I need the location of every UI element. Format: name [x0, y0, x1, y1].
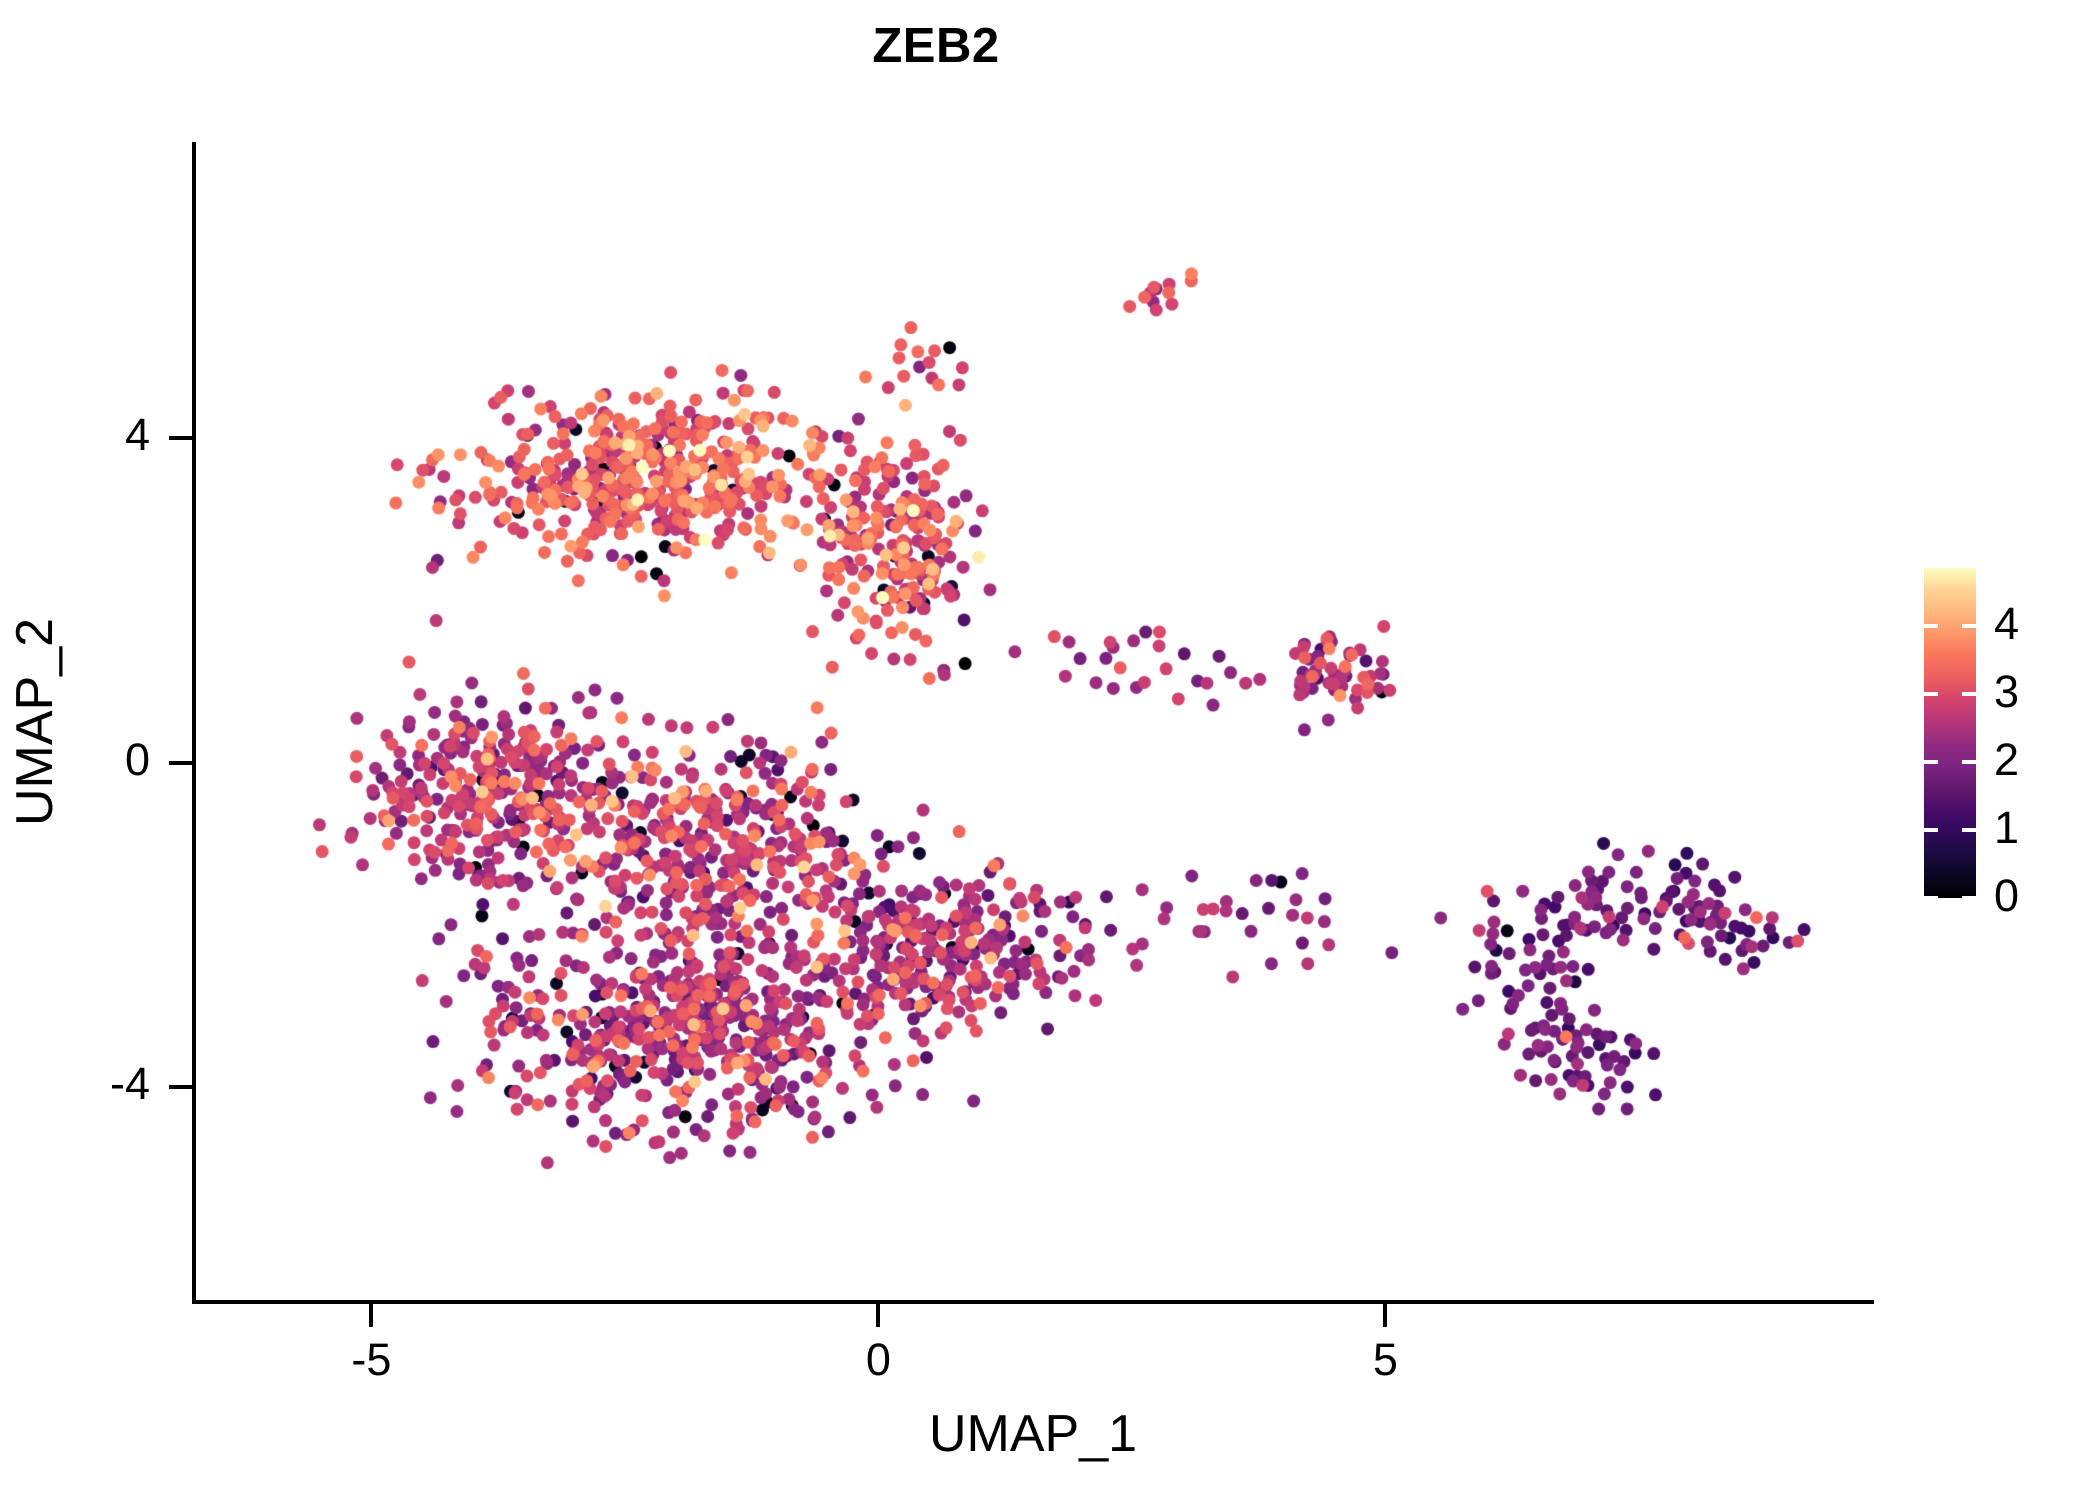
x-tick-label: 5 — [1285, 1334, 1485, 1386]
y-tick-mark — [169, 436, 193, 440]
colorbar-tick-mark — [1924, 692, 1938, 696]
plot-panel — [194, 142, 1872, 1302]
y-tick-mark — [169, 761, 193, 765]
colorbar-tick-mark — [1924, 896, 1938, 900]
x-tick-label: 0 — [778, 1334, 978, 1386]
colorbar-tick-mark — [1962, 692, 1976, 696]
x-tick-label: -5 — [271, 1334, 471, 1386]
colorbar-tick-label: 4 — [1994, 598, 2084, 650]
colorbar-tick-mark — [1962, 896, 1976, 900]
figure-root: ZEB2 -404 -505 UMAP_1 UMAP_2 01234 — [0, 0, 2100, 1500]
x-tick-mark — [1383, 1303, 1387, 1327]
y-axis-line — [192, 142, 196, 1304]
page-title: ZEB2 — [0, 18, 1872, 74]
colorbar-tick-label: 2 — [1994, 734, 2084, 786]
colorbar-tick-mark — [1924, 828, 1938, 832]
colorbar-gradient — [1924, 568, 1976, 898]
y-tick-mark — [169, 1085, 193, 1089]
colorbar-tick-mark — [1924, 760, 1938, 764]
scatter-points-layer — [194, 142, 1872, 1302]
colorbar-tick-mark — [1962, 624, 1976, 628]
colorbar-tick-label: 3 — [1994, 666, 2084, 718]
colorbar-tick-label: 1 — [1994, 802, 2084, 854]
y-axis-title: UMAP_2 — [5, 322, 65, 1122]
x-axis-line — [192, 1300, 1874, 1304]
colorbar-legend: 01234 — [1924, 568, 2094, 902]
scatter-canvas — [194, 142, 1872, 1302]
colorbar-tick-mark — [1924, 624, 1938, 628]
colorbar-tick-label: 0 — [1994, 870, 2084, 922]
x-tick-mark — [876, 1303, 880, 1327]
colorbar-tick-mark — [1962, 760, 1976, 764]
colorbar-tick-mark — [1962, 828, 1976, 832]
x-axis-title: UMAP_1 — [194, 1404, 1872, 1464]
x-tick-mark — [369, 1303, 373, 1327]
